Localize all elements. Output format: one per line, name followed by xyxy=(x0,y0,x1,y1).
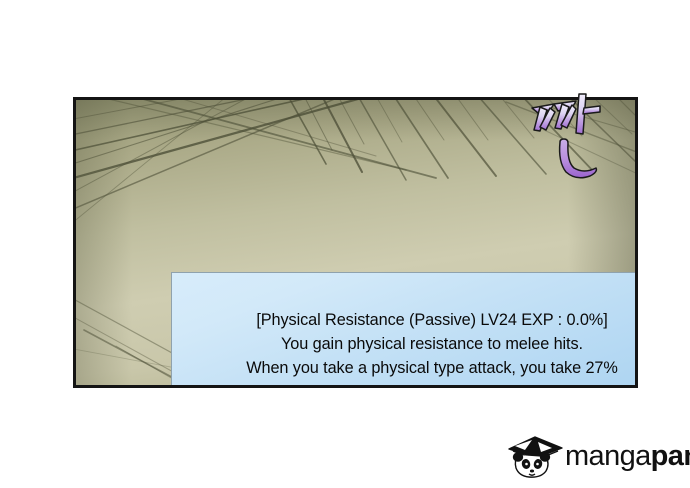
dialogue-line-2: You gain physical resistance to melee hi… xyxy=(172,333,638,357)
dialogue-line-4: less damage. xyxy=(172,381,638,388)
logo-word-panda: panda xyxy=(651,440,690,472)
dialogue-line-1: [Physical Resistance (Passive) LV24 EXP … xyxy=(172,309,638,333)
logo-wordmark: mangapanda xyxy=(565,442,690,471)
comic-page: [Physical Resistance (Passive) LV24 EXP … xyxy=(0,0,690,488)
dialogue-text: [Physical Resistance (Passive) LV24 EXP … xyxy=(172,299,638,388)
dialogue-line-3: When you take a physical type attack, yo… xyxy=(172,357,638,381)
panda-graduation-cap-icon xyxy=(505,433,567,479)
mangapanda-logo: mangapanda xyxy=(505,430,687,482)
comic-panel: [Physical Resistance (Passive) LV24 EXP … xyxy=(73,97,638,388)
dialogue-box: [Physical Resistance (Passive) LV24 EXP … xyxy=(171,272,638,388)
logo-word-manga: manga xyxy=(565,440,651,472)
